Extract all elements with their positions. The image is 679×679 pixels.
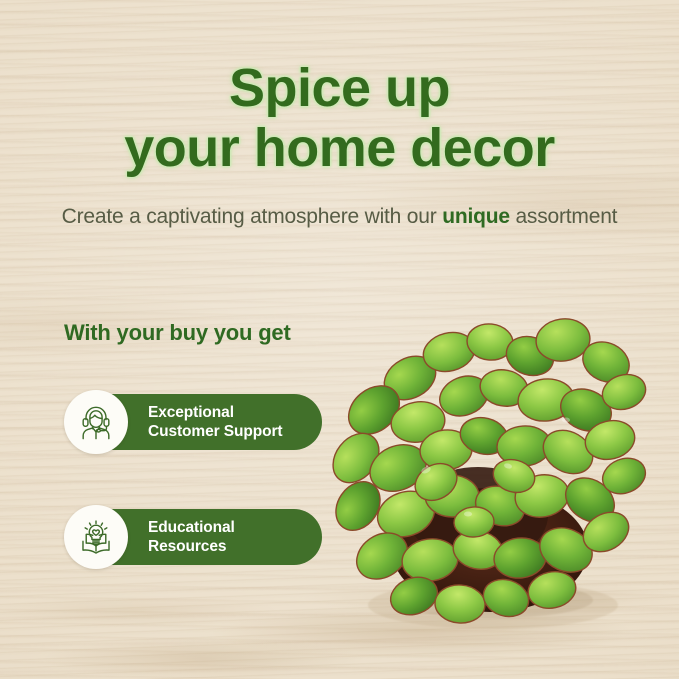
benefits-heading: With your buy you get — [64, 320, 291, 346]
headline-line-2: your home decor — [0, 118, 679, 178]
benefit-icon-bubble — [64, 505, 128, 569]
promo-banner: Spice up your home decor Create a captiv… — [0, 0, 679, 679]
subtitle: Create a captivating atmosphere with our… — [0, 204, 679, 230]
benefit-label-line-1: Educational — [148, 519, 235, 536]
benefit-label: Educational Resources — [148, 518, 235, 556]
benefit-item-customer-support[interactable]: Exceptional Customer Support — [64, 390, 322, 454]
subtitle-text-before: Create a captivating atmosphere with our — [62, 205, 443, 228]
benefit-label-line-2: Customer Support — [148, 423, 282, 440]
jade-plant-top-view-photo — [318, 300, 658, 635]
benefit-label: Exceptional Customer Support — [148, 403, 282, 441]
lightbulb-book-icon — [77, 518, 115, 556]
subtitle-text-after: assortment — [510, 205, 618, 228]
benefit-label-line-1: Exceptional — [148, 404, 234, 421]
subtitle-emphasis: unique — [442, 205, 510, 228]
benefit-item-educational-resources[interactable]: Educational Resources — [64, 505, 322, 569]
customer-support-headset-icon — [77, 403, 115, 441]
headline-line-1: Spice up — [229, 58, 450, 118]
benefit-label-line-2: Resources — [148, 538, 226, 555]
benefit-icon-bubble — [64, 390, 128, 454]
page-title: Spice up your home decor — [0, 58, 679, 178]
